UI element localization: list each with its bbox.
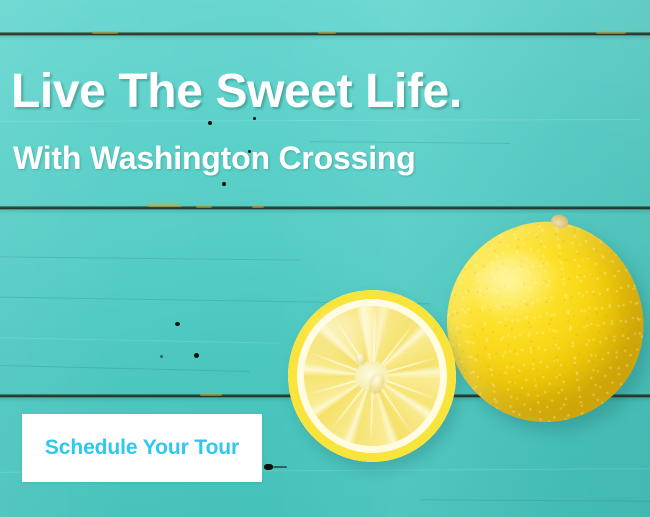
seam-fleck <box>148 204 182 207</box>
paint-speck <box>208 121 212 125</box>
seam-fleck <box>596 31 626 34</box>
paint-speck <box>175 322 180 326</box>
seam-fleck <box>200 393 222 396</box>
page-subtitle: With Washington Crossing <box>13 139 416 177</box>
paint-speck <box>194 353 199 358</box>
paint-speck <box>222 182 226 186</box>
paint-speck <box>273 466 287 468</box>
schedule-tour-button[interactable]: Schedule Your Tour <box>22 414 262 482</box>
seam-fleck <box>92 31 118 34</box>
seam-fleck <box>196 205 212 208</box>
schedule-tour-label: Schedule Your Tour <box>45 435 239 461</box>
plank-seam-2 <box>0 206 650 210</box>
paint-speck <box>264 464 273 470</box>
paint-speck <box>160 355 163 358</box>
seam-fleck <box>252 205 264 208</box>
promo-banner: Live The Sweet Life. With Washington Cro… <box>0 0 650 517</box>
seam-fleck <box>318 31 336 34</box>
page-title: Live The Sweet Life. <box>11 66 462 118</box>
